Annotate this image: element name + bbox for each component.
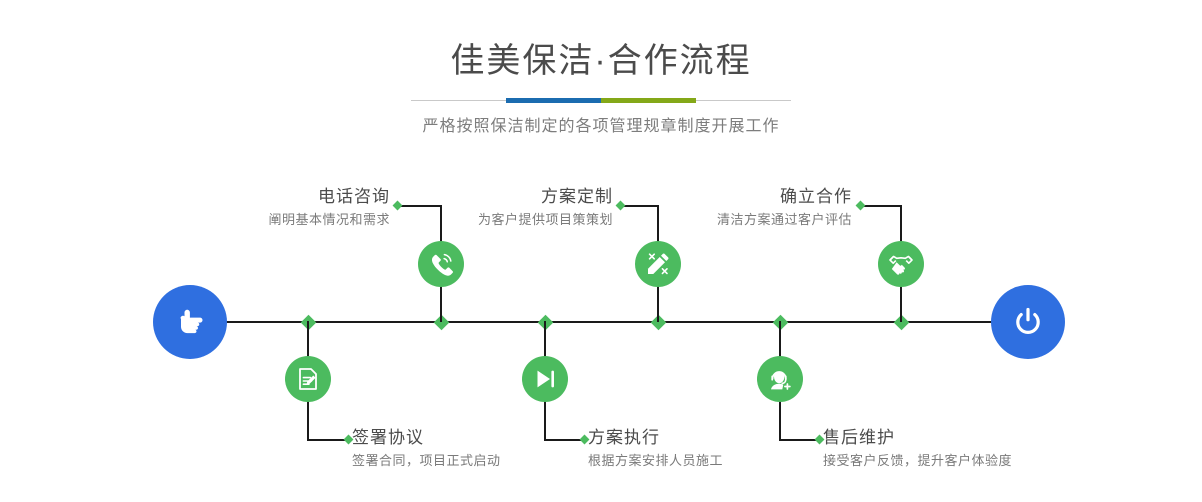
branch-line-bottom-1-horizontal [307, 439, 348, 441]
customer-support-add-icon [766, 365, 794, 393]
step-icon-bottom-2[interactable] [522, 356, 568, 402]
infographic-canvas: 佳美保洁·合作流程 严格按照保洁制定的各项管理规章制度开展工作 [0, 0, 1202, 502]
step-title-top-2: 方案定制 [380, 186, 613, 208]
branch-line-bottom-2-horizontal [544, 439, 584, 441]
label-marker-top-3 [856, 201, 866, 211]
step-desc-top-3: 清洁方案通过客户评估 [620, 210, 852, 230]
handshake-icon [887, 250, 915, 278]
step-desc-top-1: 阐明基本情况和需求 [150, 210, 390, 230]
header: 佳美保洁·合作流程 严格按照保洁制定的各项管理规章制度开展工作 [0, 0, 1202, 138]
step-icon-top-1[interactable] [418, 241, 464, 287]
start-node-pointing-hand[interactable] [153, 285, 227, 359]
step-icon-bottom-3[interactable] [757, 356, 803, 402]
divider-segment-blue [506, 98, 601, 103]
power-button-icon [1008, 302, 1048, 342]
branch-line-bottom-3-horizontal [779, 439, 819, 441]
step-label-bottom-2: 方案执行 根据方案安排人员施工 [588, 427, 848, 471]
step-title-bottom-1: 签署协议 [352, 427, 612, 449]
play-execute-icon [531, 365, 559, 393]
step-title-top-3: 确立合作 [620, 186, 852, 208]
step-label-top-2: 方案定制 为客户提供项目策策划 [380, 186, 613, 230]
step-label-top-1: 电话咨询 阐明基本情况和需求 [150, 186, 390, 230]
page-subtitle: 严格按照保洁制定的各项管理规章制度开展工作 [0, 104, 1202, 138]
end-node-power-button[interactable] [991, 285, 1065, 359]
step-desc-bottom-1: 签署合同，项目正式启动 [352, 451, 612, 471]
step-icon-top-3[interactable] [878, 241, 924, 287]
step-title-bottom-2: 方案执行 [588, 427, 848, 449]
step-desc-bottom-2: 根据方案安排人员施工 [588, 451, 848, 471]
step-title-top-1: 电话咨询 [150, 186, 390, 208]
document-sign-icon [294, 365, 322, 393]
page-title: 佳美保洁·合作流程 [0, 0, 1202, 84]
divider-segment-green [601, 98, 696, 103]
step-desc-bottom-3: 接受客户反馈，提升客户体验度 [823, 451, 1113, 471]
title-divider [411, 98, 791, 104]
step-icon-top-2[interactable] [635, 241, 681, 287]
step-title-bottom-3: 售后维护 [823, 427, 1113, 449]
step-icon-bottom-1[interactable] [285, 356, 331, 402]
step-label-bottom-3: 售后维护 接受客户反馈，提升客户体验度 [823, 427, 1113, 471]
step-label-top-3: 确立合作 清洁方案通过客户评估 [620, 186, 852, 230]
step-desc-top-2: 为客户提供项目策策划 [380, 210, 613, 230]
pencil-design-icon [644, 250, 672, 278]
phone-call-icon [427, 250, 455, 278]
step-label-bottom-1: 签署协议 签署合同，项目正式启动 [352, 427, 612, 471]
pointing-hand-icon [170, 302, 210, 342]
branch-line-top-3-horizontal [862, 205, 902, 207]
